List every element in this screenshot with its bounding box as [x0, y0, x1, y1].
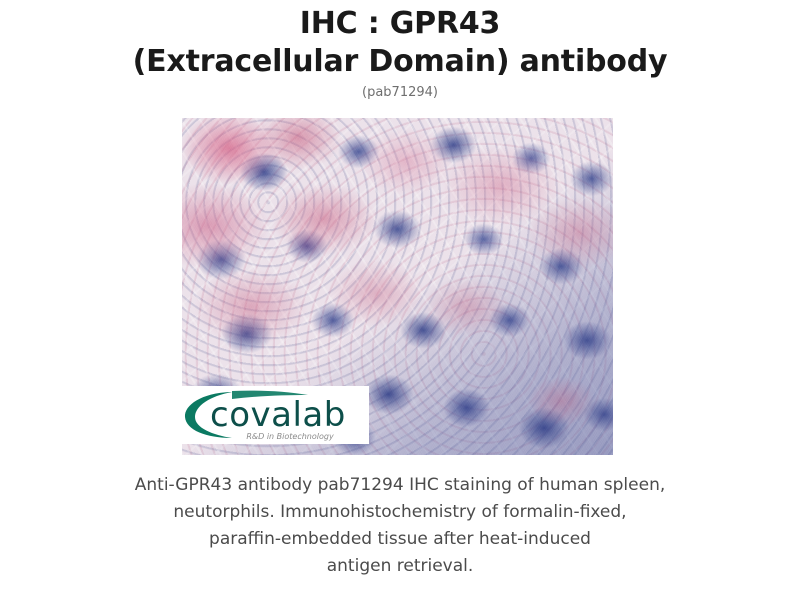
covalab-tagline: R&D in Biotechnology	[246, 432, 334, 441]
page-title-line-2: (Extracellular Domain) antibody	[20, 44, 780, 80]
caption-line-2: neutorphils. Immunohistochemistry of for…	[70, 499, 730, 526]
caption-line-4: antigen retrieval.	[70, 553, 730, 580]
covalab-logo-graphic: covalab R&D in Biotechnology	[180, 386, 369, 444]
covalab-logo: covalab R&D in Biotechnology	[180, 386, 369, 444]
figure-root: IHC : GPR43 (Extracellular Domain) antib…	[0, 0, 800, 600]
page-title-line-1: IHC : GPR43	[20, 6, 780, 42]
title-block: IHC : GPR43 (Extracellular Domain) antib…	[20, 0, 780, 101]
catalog-number: (pab71294)	[20, 85, 780, 101]
covalab-wordmark: covalab	[210, 395, 346, 435]
caption-line-1: Anti-GPR43 antibody pab71294 IHC stainin…	[70, 472, 730, 499]
figure-caption: Anti-GPR43 antibody pab71294 IHC stainin…	[70, 472, 730, 580]
caption-line-3: paraffin-embedded tissue after heat-indu…	[70, 526, 730, 553]
